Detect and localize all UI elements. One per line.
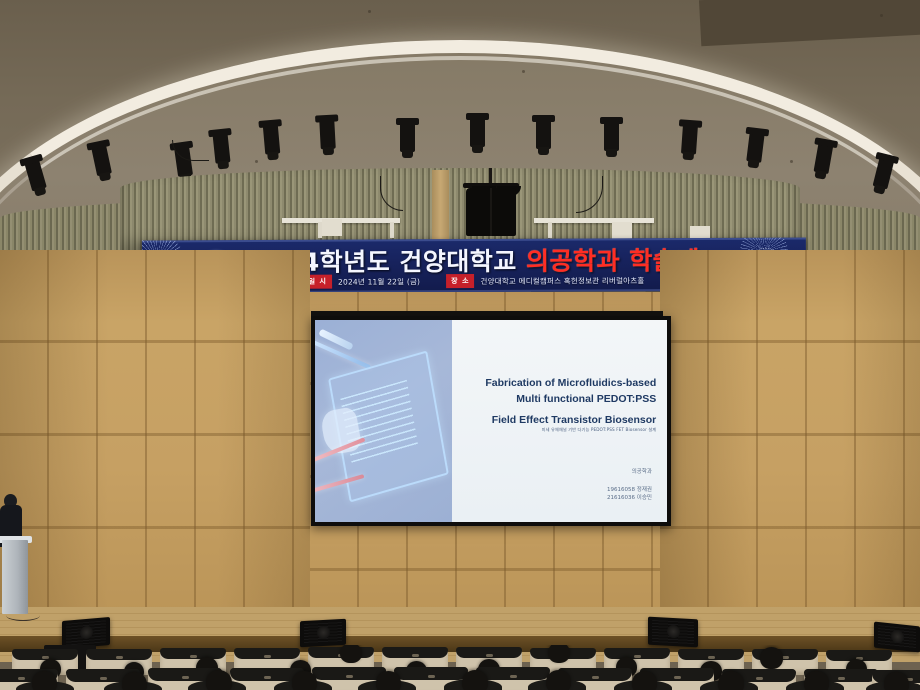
seat-knob [264,676,271,679]
stage-rail-right [534,218,654,223]
stage-box [612,222,632,239]
audience-head [292,671,317,690]
ceiling-fixture-speck [255,160,258,163]
stage-light [536,119,551,149]
audience-head [340,645,362,663]
stage-rail-leg [390,222,394,238]
seat-knob [264,655,271,658]
seat-knob [510,675,517,678]
seat-knob [674,676,681,679]
seat-knob [346,675,353,678]
slide-author-1: 19616058 정재권 [607,487,652,493]
audience-head [546,670,571,690]
audience-head [548,645,570,663]
audience-head [376,671,401,690]
auditorium-photo: 2024학년도 건양대학교 의공학과 학술제 일 시 2024년 11월 22일… [0,0,920,690]
seat-knob [182,676,189,679]
ceiling-fixture-speck [790,160,793,163]
stage-light [470,117,485,147]
slide-title-line2: Multi functional PEDOT:PSS [516,393,656,405]
podium-cable [6,610,40,621]
audience-head [206,670,232,690]
speaker-cone [317,626,330,640]
slide-title-line1: Fabrication of Microfluidics-based [485,377,656,389]
audience-head [884,672,909,690]
slide-subtitle: 미세 유체채널 기반 다기능 PEDOT:PSS FET Biosensor 설… [542,427,657,433]
seat-knob [412,654,419,657]
banner-place-text: 건양대학교 메디컬캠퍼스 혹헌정보관 리버럴아츠홀 [480,275,644,287]
slat-wall-center-post [432,170,449,244]
slide-title-line3: Field Effect Transistor Biosensor [461,412,656,428]
seat-knob [592,676,599,679]
slide-authors: 19616058 정재권 21616036 이승민 [607,486,652,503]
slide-department: 의공학과 [632,467,652,475]
wood-wall-right [660,250,920,612]
wall-shading [0,250,310,612]
banner-date-text: 2024년 11월 22일 (금) [338,276,420,287]
slide-text-panel: Fabrication of Microfluidics-based Multi… [452,320,667,522]
wood-wall-left [0,250,310,612]
stage-light [400,122,415,152]
floor-monitor-speaker [648,617,698,648]
audience-head [718,671,744,690]
stage-light [681,124,698,155]
slide-title: Fabrication of Microfluidics-based Multi… [461,375,656,429]
presentation-slide: Fabrication of Microfluidics-based Multi… [315,320,667,522]
floor-monitor-speaker [300,619,346,647]
speaker-cone [667,625,680,639]
seat-knob [190,655,197,658]
seat-knob [100,677,107,680]
audience-head [804,671,829,690]
podium [2,540,28,614]
projection-screen: Fabrication of Microfluidics-based Multi… [311,316,671,526]
slide-image-panel [315,320,452,522]
audience-head [632,671,657,690]
seat-knob [838,677,845,680]
audience-head [760,647,783,669]
ceiling-fixture-speck [522,70,525,73]
stage-rail-leg [548,222,552,238]
seat-knob [116,656,123,659]
seat-knob [756,677,763,680]
seat-knob [634,655,641,658]
seat-knob [486,654,493,657]
audience-head [462,670,488,690]
audience-head [122,672,147,690]
audience-area [0,645,920,690]
banner-place-chip: 장 소 [446,274,474,288]
seat-knob [708,656,715,659]
ceiling-fixture-speck [880,14,883,17]
stage-light [319,119,336,150]
projector-mount-rod [489,168,492,184]
stage-light [263,123,281,154]
slide-author-2: 21616036 이승민 [607,495,652,501]
stage-box [322,219,342,236]
ceiling-fixture-speck [368,10,371,13]
stage-light [212,132,230,163]
seat-knob [18,677,25,680]
ceiling-speaker-cluster [466,188,516,236]
seat-knob [428,675,435,678]
audience-head [32,671,57,690]
stage-light [604,121,619,151]
wall-shading [660,250,920,612]
